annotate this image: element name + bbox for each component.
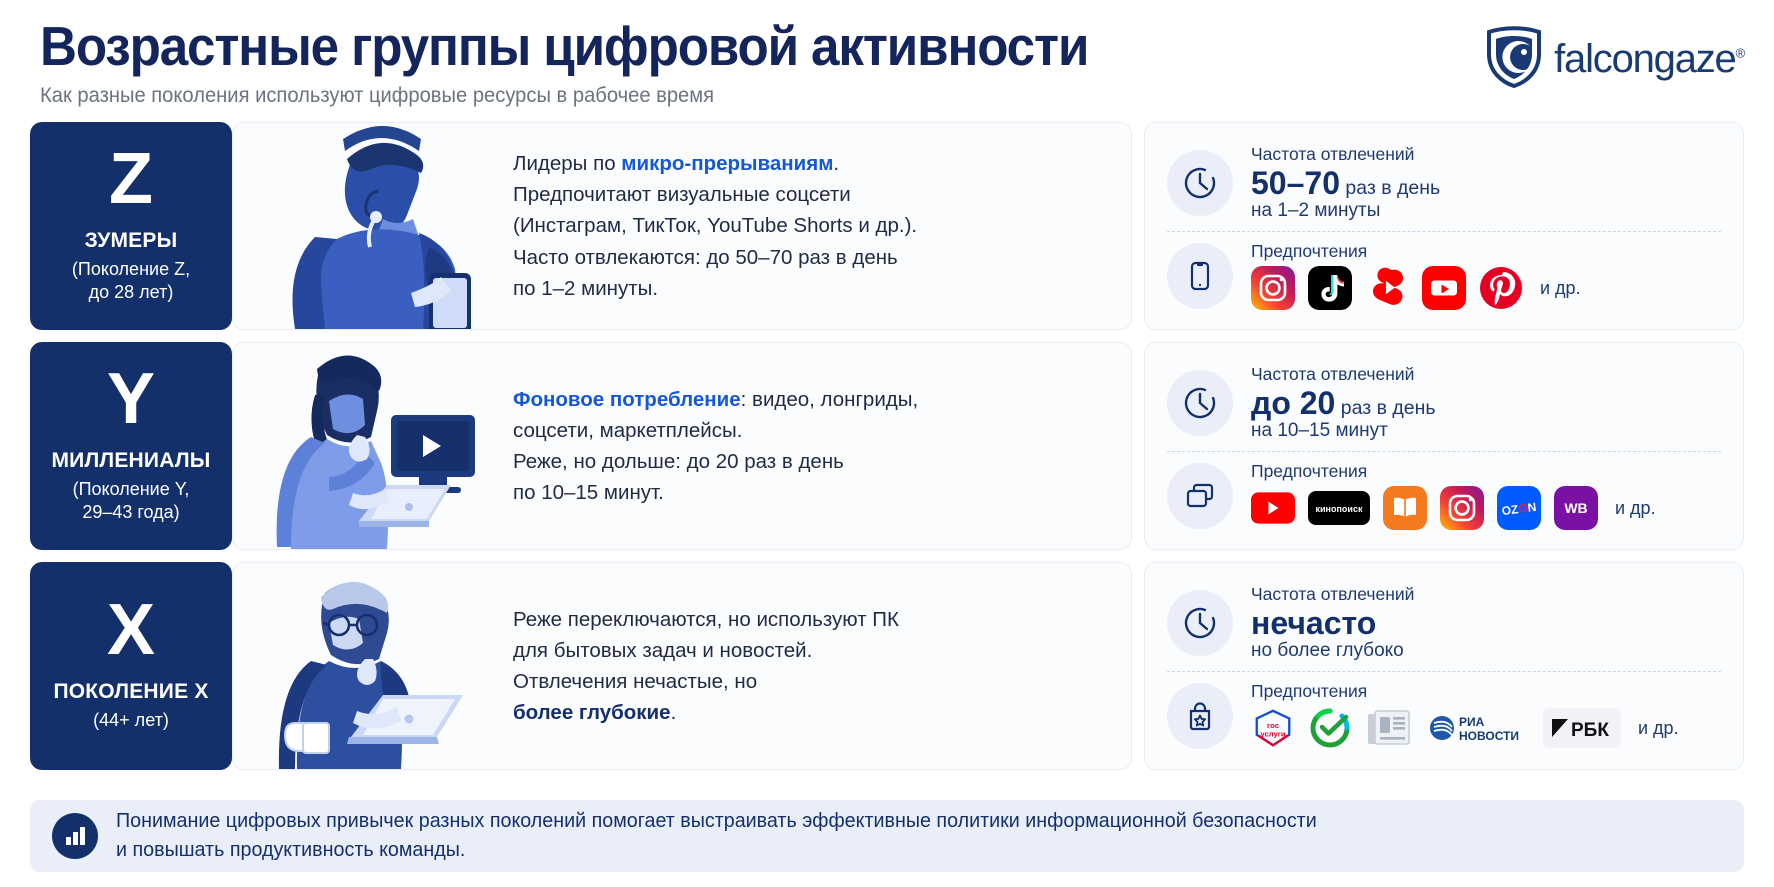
badge-y: Y МИЛЛЕНИАЛЫ (Поколение Y, 29–43 года) — [30, 342, 232, 550]
stats-panel-z: Частота отвлечений 50–70 раз в день на 1… — [1144, 122, 1744, 330]
woman-at-desktop-computer-illustration — [233, 343, 495, 549]
accent-phrase: Фоновое потребление — [513, 388, 741, 411]
stats-panel-y: Частота отвлечений до 20 раз в день на 1… — [1144, 342, 1744, 550]
ria-novosti-icon[interactable]: РИА НОВОСТИ — [1426, 706, 1530, 750]
app-icon-list-x: гос услуги — [1251, 706, 1679, 750]
footer-line-1: Понимание цифровых привычек разных покол… — [116, 807, 1317, 836]
falcon-eye-shield-icon — [1486, 26, 1542, 93]
generation-rows: Z ЗУМЕРЫ (Поколение Z, до 28 лет) — [0, 122, 1774, 782]
svg-text:услуги: услуги — [1260, 730, 1285, 739]
app-icon-list-y: кинопоиск — [1251, 486, 1656, 530]
divider — [1167, 231, 1721, 232]
svg-text:кинопоиск: кинопоиск — [1316, 504, 1363, 514]
stats-panel-x: Частота отвлечений нечасто но более глуб… — [1144, 562, 1744, 770]
rbc-icon[interactable]: РБК — [1543, 708, 1621, 748]
page-title: Возрастные группы цифровой активности — [40, 14, 1088, 78]
preferences-label: Предпочтения — [1251, 681, 1679, 702]
ozon-icon[interactable]: OZON — [1497, 486, 1541, 530]
frequency-label: Частота отвлечений — [1251, 144, 1440, 165]
badge-name: ПОКОЛЕНИЕ X — [53, 680, 208, 704]
badge-name: МИЛЛЕНИАЛЫ — [51, 449, 210, 473]
description-text-x: Реже переключаются, но используют ПК для… — [495, 604, 919, 729]
svg-text:РИА: РИА — [1459, 715, 1485, 729]
clock-icon — [1167, 150, 1233, 216]
youtube-icon[interactable] — [1251, 486, 1295, 530]
newspaper-icon[interactable] — [1365, 706, 1413, 750]
clock-icon — [1167, 590, 1233, 656]
accent-phrase: более глубокие — [513, 701, 671, 724]
logo-wordmark: falcongaze® — [1554, 37, 1744, 82]
page-subtitle: Как разные поколения используют цифровые… — [40, 84, 714, 108]
bar-chart-icon — [52, 813, 98, 859]
kinopoisk-icon[interactable]: кинопоиск — [1308, 486, 1370, 530]
books-icon[interactable] — [1383, 486, 1427, 530]
more-label: и др. — [1540, 278, 1581, 299]
svg-text:НОВОСТИ: НОВОСТИ — [1459, 729, 1519, 743]
generation-row-z: Z ЗУМЕРЫ (Поколение Z, до 28 лет) — [0, 122, 1774, 330]
sber-icon[interactable] — [1308, 706, 1352, 750]
more-label: и др. — [1615, 498, 1656, 519]
preferences-label: Предпочтения — [1251, 461, 1656, 482]
preferences-block-z: Предпочтения — [1167, 241, 1721, 310]
badge-letter: X — [107, 594, 155, 666]
svg-text:гос: гос — [1267, 721, 1280, 730]
frequency-value: до 20 раз в день — [1251, 387, 1436, 421]
description-card-z: Лидеры по микро-прерываниям. Предпочитаю… — [232, 122, 1132, 330]
badge-letter: Y — [107, 363, 155, 435]
instagram-icon[interactable] — [1251, 266, 1295, 310]
tiktok-icon[interactable] — [1308, 266, 1352, 310]
youtube-icon[interactable] — [1422, 266, 1466, 310]
frequency-duration: на 1–2 минуты — [1251, 200, 1440, 222]
badge-name: ЗУМЕРЫ — [85, 229, 178, 253]
accent-phrase: микро-прерываниям — [621, 152, 833, 175]
older-man-with-laptop-illustration — [233, 563, 495, 769]
header: Возрастные группы цифровой активности Ка… — [0, 0, 1774, 122]
description-text-z: Лидеры по микро-прерываниям. Предпочитаю… — [495, 148, 937, 304]
badge-x: X ПОКОЛЕНИЕ X (44+ лет) — [30, 562, 232, 770]
divider — [1167, 451, 1721, 452]
falcongaze-logo: falcongaze® — [1486, 26, 1744, 93]
young-man-with-smartphone-illustration — [233, 123, 495, 329]
badge-letter: Z — [109, 143, 153, 215]
frequency-label: Частота отвлечений — [1251, 364, 1436, 385]
frequency-duration: но более глубоко — [1251, 640, 1414, 662]
clock-icon — [1167, 370, 1233, 436]
gosuslugi-icon[interactable]: гос услуги — [1251, 706, 1295, 750]
divider — [1167, 671, 1721, 672]
generation-row-y: Y МИЛЛЕНИАЛЫ (Поколение Y, 29–43 года) — [0, 342, 1774, 550]
frequency-duration: на 10–15 минут — [1251, 420, 1436, 442]
description-card-y: Фоновое потребление: видео, лонгриды, со… — [232, 342, 1132, 550]
app-icon-list-z: и др. — [1251, 266, 1581, 310]
description-text-y: Фоновое потребление: видео, лонгриды, со… — [495, 384, 938, 509]
svg-text:WB: WB — [1564, 500, 1587, 516]
frequency-block-x: Частота отвлечений нечасто но более глуб… — [1167, 584, 1721, 663]
youtube-shorts-icon[interactable] — [1365, 266, 1409, 310]
preferences-block-x: Предпочтения гос услуги — [1167, 681, 1721, 750]
pinterest-icon[interactable] — [1479, 266, 1523, 310]
preferences-block-y: Предпочтения кин — [1167, 461, 1721, 530]
badge-sub-line1: (Поколение Y, — [73, 478, 190, 501]
footer-note: Понимание цифровых привычек разных покол… — [30, 800, 1744, 872]
frequency-value: 50–70 раз в день — [1251, 167, 1440, 201]
badge-sub-line2: до 28 лет) — [89, 281, 174, 304]
badge-sub-line1: (Поколение Z, — [72, 258, 190, 281]
svg-text:РБК: РБК — [1571, 720, 1609, 741]
frequency-value: нечасто — [1251, 607, 1414, 641]
footer-text: Понимание цифровых привычек разных покол… — [116, 807, 1317, 865]
instagram-icon[interactable] — [1440, 486, 1484, 530]
wildberries-icon[interactable]: WB — [1554, 486, 1598, 530]
footer-line-2: и повышать продуктивность команды. — [116, 836, 1317, 865]
smartphone-icon — [1167, 243, 1233, 309]
description-card-x: Реже переключаются, но используют ПК для… — [232, 562, 1132, 770]
windows-stack-icon — [1167, 463, 1233, 529]
badge-sub-line1: (44+ лет) — [93, 709, 169, 732]
frequency-label: Частота отвлечений — [1251, 584, 1414, 605]
frequency-block-z: Частота отвлечений 50–70 раз в день на 1… — [1167, 144, 1721, 223]
badge-sub-line2: 29–43 года) — [82, 501, 179, 524]
frequency-block-y: Частота отвлечений до 20 раз в день на 1… — [1167, 364, 1721, 443]
shopping-bag-star-icon — [1167, 683, 1233, 749]
generation-row-x: X ПОКОЛЕНИЕ X (44+ лет) — [0, 562, 1774, 770]
badge-z: Z ЗУМЕРЫ (Поколение Z, до 28 лет) — [30, 122, 232, 330]
infographic-page: Возрастные группы цифровой активности Ка… — [0, 0, 1774, 887]
preferences-label: Предпочтения — [1251, 241, 1581, 262]
more-label: и др. — [1638, 718, 1679, 739]
